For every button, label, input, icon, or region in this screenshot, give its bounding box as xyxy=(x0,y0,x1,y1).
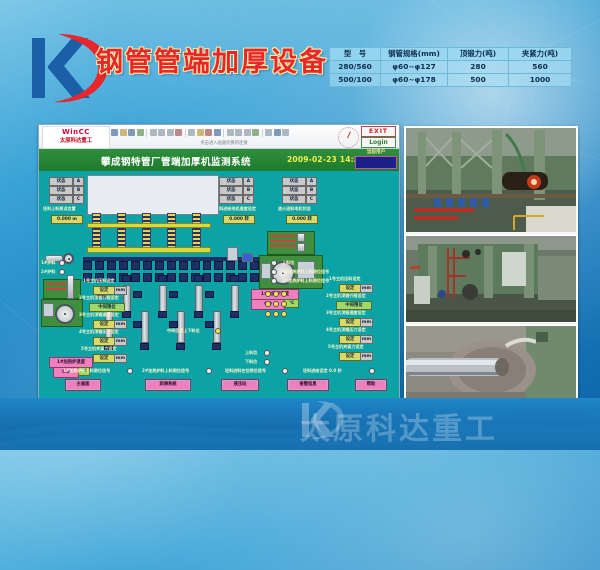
valve xyxy=(194,311,203,318)
cell-pipe-spec: φ60~φ178 xyxy=(381,74,448,87)
toolbar-separator xyxy=(223,129,224,137)
toolbar-separator xyxy=(185,129,186,137)
font-icon[interactable] xyxy=(197,129,204,136)
status-flag[interactable]: C xyxy=(243,195,254,204)
machine-param-label: 2号主机顶锻行程设定 xyxy=(79,296,119,300)
drive-motor xyxy=(242,253,253,262)
valve xyxy=(194,275,203,282)
indicator-lamp xyxy=(271,260,277,266)
left-panel-heading: 坯料上料原点位置 xyxy=(43,207,76,211)
open-icon[interactable] xyxy=(120,129,127,136)
status-field[interactable]: 状态 xyxy=(282,177,306,186)
toolbar-separator xyxy=(146,129,147,137)
terminal-box xyxy=(261,263,271,279)
machine-param-label-r: 3号主机顶锻速度设定 xyxy=(326,311,366,315)
current-user-value[interactable] xyxy=(355,156,397,169)
footer-watermark: 太原科达重工 xyxy=(300,404,498,448)
status-field[interactable]: 状态 xyxy=(49,186,73,195)
wincc-brand-sub: 太原科达重工 xyxy=(43,137,109,146)
status-flag[interactable]: C xyxy=(73,195,84,204)
station-lamp-row xyxy=(265,291,287,297)
status-field[interactable]: 状态 xyxy=(219,186,243,195)
grid-icon[interactable] xyxy=(244,129,251,136)
bottom-indicator-lamp xyxy=(127,368,133,374)
right-panel-readout-2[interactable]: 0.000 转 xyxy=(286,215,318,224)
nav-button-alarm[interactable]: 报警信息 xyxy=(287,379,329,391)
bottom-indicator-label: 2#加热炉料上料限位信号 xyxy=(142,369,189,373)
current-user-widget: 当前用户 xyxy=(355,150,397,169)
status-flag[interactable]: B xyxy=(306,186,317,195)
cylinder xyxy=(195,285,203,313)
copy-icon[interactable] xyxy=(158,129,165,136)
valve xyxy=(140,343,149,350)
bottom-indicator-label: 1#加热炉料上料限位信号 xyxy=(63,369,110,373)
column-3 xyxy=(142,213,151,251)
col-pipe-spec: 钢管规格(mm) xyxy=(381,48,448,61)
indicator-lamp xyxy=(59,269,65,275)
indicator-label: 上料位 xyxy=(245,351,257,355)
status-field[interactable]: 状态 xyxy=(49,195,73,204)
nav-button-lubrication[interactable]: 润滑系统 xyxy=(145,379,191,391)
column-5 xyxy=(192,213,201,251)
valve xyxy=(205,291,214,298)
bottom-indicator-label: 坯料进给设定 0.0 秒 xyxy=(303,369,342,373)
machine-param-value-r[interactable]: 中间限位 xyxy=(336,301,372,310)
center-position-lamp xyxy=(215,328,221,334)
status-field[interactable]: 状态 xyxy=(282,195,306,204)
cell-clamp-force: 1000 xyxy=(509,74,572,87)
indicator-lamp xyxy=(59,260,65,266)
cross-tie-upper xyxy=(87,223,211,228)
indicator-lamp xyxy=(271,278,277,284)
hmi-system-title: 攀成钢特管厂管端加厚机监测系统 xyxy=(101,154,251,168)
new-icon[interactable] xyxy=(111,129,118,136)
undo-icon[interactable] xyxy=(188,129,195,136)
col-upset-force: 顶锻力(吨) xyxy=(448,48,509,61)
coupler xyxy=(297,243,305,252)
machine-param-unit-r: mm xyxy=(360,318,373,327)
cylinder xyxy=(159,285,167,313)
color-icon[interactable] xyxy=(205,129,212,136)
toolbar-separator xyxy=(262,129,263,137)
indicator-lamp xyxy=(271,269,277,275)
status-field[interactable]: 状态 xyxy=(219,177,243,186)
column-1 xyxy=(92,213,101,251)
login-button[interactable]: Login xyxy=(361,137,396,148)
status-field[interactable]: 状态 xyxy=(219,195,243,204)
machine-param-label: 3号主机顶锻速度设定 xyxy=(79,313,119,317)
machine-param-unit: mm xyxy=(114,337,127,346)
indicator-label: 1#炉料 xyxy=(41,261,55,265)
valve xyxy=(158,275,167,282)
piston-rod xyxy=(67,275,74,299)
bottom-indicator-lamp xyxy=(369,368,375,374)
column-2 xyxy=(117,213,126,251)
exit-button[interactable]: EXIT xyxy=(361,126,396,137)
hmi-mimic-diagram: 状态 A 状态 B 状态 C 坯料上料原点位置 0.000 m 状态 A 状态 … xyxy=(39,171,399,398)
photo-furnace-area xyxy=(404,234,578,324)
machine-param-label-r: 2号主机顶锻行程设定 xyxy=(326,294,366,298)
paste-icon[interactable] xyxy=(167,129,174,136)
valve xyxy=(169,291,178,298)
machine-param-value[interactable]: 设定 xyxy=(93,320,115,329)
wincc-brand: WinCC xyxy=(43,127,109,137)
valve xyxy=(230,275,239,282)
hmi-toolbar: WinCC 太原科达重工 xyxy=(39,125,399,149)
machine-param-value[interactable]: 设定 xyxy=(93,337,115,346)
valve xyxy=(205,321,214,328)
indicator-label: 上料位 xyxy=(282,261,294,265)
machine-param-label-r: 4号主机顶锻压力设定 xyxy=(326,328,366,332)
cut-icon[interactable] xyxy=(150,129,157,136)
align-icon[interactable] xyxy=(214,129,221,136)
toolbar-icon-row xyxy=(111,126,337,138)
furnace-body xyxy=(87,175,219,215)
hmi-screenshot: WinCC 太原科达重工 xyxy=(38,124,400,398)
machine-param-label-r: 5号主机夹紧力设定 xyxy=(328,345,364,349)
layer-icon[interactable] xyxy=(265,129,272,136)
cell-upset-force: 280 xyxy=(448,61,509,74)
bottom-indicator-label: 坯料进料在位限位信号 xyxy=(225,369,266,373)
machine-param-label: 5号主机夹紧力设定 xyxy=(81,347,117,351)
machine-param-label: 4号主机顶锻压力设定 xyxy=(79,330,119,334)
nav-button-hydraulic[interactable]: 液压站 xyxy=(221,379,259,391)
toolbar-icons-area: 点击进入画面切换的连接 xyxy=(111,126,337,147)
machine-param-value-r[interactable]: 设定 xyxy=(339,318,361,327)
cell-model: 500/100 xyxy=(330,74,381,87)
machine-param-label: 1号主机压料设定 xyxy=(83,279,115,283)
help-icon[interactable] xyxy=(282,129,289,136)
valve xyxy=(133,321,142,328)
pump-dial-left xyxy=(55,304,75,324)
machine-param-value-r[interactable]: 设定 xyxy=(339,335,361,344)
photo-production-line xyxy=(404,126,578,234)
bottom-indicator-lamp xyxy=(206,368,212,374)
machine-param-unit-r: mm xyxy=(360,352,373,361)
valve xyxy=(122,275,131,282)
cell-clamp-force: 560 xyxy=(509,61,572,74)
indicator-lamp xyxy=(264,359,270,365)
status-field[interactable]: 状态 xyxy=(282,186,306,195)
valve xyxy=(176,343,185,350)
center-position-label: 中间位置上下料位 xyxy=(167,329,200,333)
clock-icon xyxy=(338,127,359,148)
cross-tie-lower xyxy=(87,247,211,253)
status-flag[interactable]: A xyxy=(243,177,254,186)
properties-icon[interactable] xyxy=(274,129,281,136)
table-row: 500/100 φ60~φ178 500 1000 xyxy=(330,74,572,87)
status-flag[interactable]: B xyxy=(73,186,84,195)
column-4 xyxy=(167,213,176,251)
machine-param-value-r[interactable]: 设定 xyxy=(339,352,361,361)
hmi-title-bar: 攀成钢特管厂管端加厚机监测系统 2009-02-23 14:29:24 当前用户 xyxy=(39,149,399,171)
hose xyxy=(46,288,66,290)
machine-param-value[interactable]: 设定 xyxy=(93,354,115,363)
zoom-in-icon[interactable] xyxy=(227,129,234,136)
machine-param-unit-r: mm xyxy=(360,284,373,293)
cylinder xyxy=(213,311,221,343)
col-clamp-force: 夹紧力(吨) xyxy=(509,48,572,61)
right-panel-heading-1: 送料进给电机速度设定 xyxy=(215,207,256,211)
nav-button-help[interactable]: 帮助 xyxy=(355,379,387,391)
toolbar-caption: 点击进入画面切换的连接 xyxy=(111,140,337,146)
valve xyxy=(122,311,131,318)
right-panel-heading-2: 退火送料电机状态 xyxy=(278,207,311,211)
indicator-label: 2#炉料 xyxy=(41,270,55,274)
cell-pipe-spec: φ60~φ127 xyxy=(381,61,448,74)
coupler xyxy=(297,233,305,242)
machine-param-unit: mm xyxy=(114,286,127,295)
left-panel-readout[interactable]: 0.000 m xyxy=(51,215,83,224)
indicator-label: 1#加热炉料上料限位信号 xyxy=(282,270,329,274)
table-header-row: 型 号 钢管规格(mm) 顶锻力(吨) 夹紧力(吨) xyxy=(330,48,572,61)
hose xyxy=(270,240,296,242)
machine-param-value[interactable]: 设定 xyxy=(93,286,115,295)
machine-param-value-r[interactable]: 设定 xyxy=(339,284,361,293)
photo-pipe-end xyxy=(404,324,578,408)
status-flag[interactable]: A xyxy=(73,177,84,186)
terminal-box xyxy=(43,303,54,317)
hose xyxy=(46,283,66,285)
hose xyxy=(270,245,296,247)
status-flag[interactable]: C xyxy=(306,195,317,204)
page-title: 钢管管端加厚设备 xyxy=(96,40,328,79)
sensor-box xyxy=(227,247,238,261)
cylinder xyxy=(177,311,185,343)
cylinder xyxy=(141,311,149,343)
valve xyxy=(133,291,142,298)
cell-model: 280/560 xyxy=(330,61,381,74)
status-field[interactable]: 状态 xyxy=(49,177,73,186)
delete-icon[interactable] xyxy=(175,129,182,136)
machine-param-label-r: 1号主机压料设定 xyxy=(329,277,361,281)
page-footer: 太原科达重工 xyxy=(0,398,600,450)
bottom-indicator-lamp xyxy=(282,368,288,374)
valve xyxy=(158,311,167,318)
machine-param-unit-r: mm xyxy=(360,335,373,344)
zoom-out-icon[interactable] xyxy=(235,129,242,136)
cylinder xyxy=(231,285,239,313)
indicator-label: 下料位 xyxy=(245,360,257,364)
machine-param-unit: mm xyxy=(114,354,127,363)
machine-param-value[interactable]: 中间限位 xyxy=(89,303,125,312)
table-row: 280/560 φ60~φ127 280 560 xyxy=(330,61,572,74)
status-flag[interactable]: A xyxy=(306,177,317,186)
machine-param-unit: mm xyxy=(114,320,127,329)
station-lamp-row xyxy=(265,301,287,307)
wincc-logo: WinCC 太原科达重工 xyxy=(42,126,110,149)
nav-button-main[interactable]: 主画面 xyxy=(65,379,101,391)
col-model: 型 号 xyxy=(330,48,381,61)
right-panel-readout-1[interactable]: 0.000 转 xyxy=(223,215,255,224)
run-icon[interactable] xyxy=(252,129,259,136)
valve xyxy=(169,321,178,328)
spec-table: 型 号 钢管规格(mm) 顶锻力(吨) 夹紧力(吨) 280/560 φ60~φ… xyxy=(329,47,572,87)
station-lamp-row xyxy=(265,311,287,317)
hose xyxy=(270,235,296,237)
indicator-lamp xyxy=(264,350,270,356)
status-flag[interactable]: B xyxy=(243,186,254,195)
print-icon[interactable] xyxy=(137,129,144,136)
valve xyxy=(230,311,239,318)
valve xyxy=(212,343,221,350)
cell-upset-force: 500 xyxy=(448,74,509,87)
save-icon[interactable] xyxy=(128,129,135,136)
indicator-label: 2#加热炉料上料限位信号 xyxy=(282,279,329,283)
